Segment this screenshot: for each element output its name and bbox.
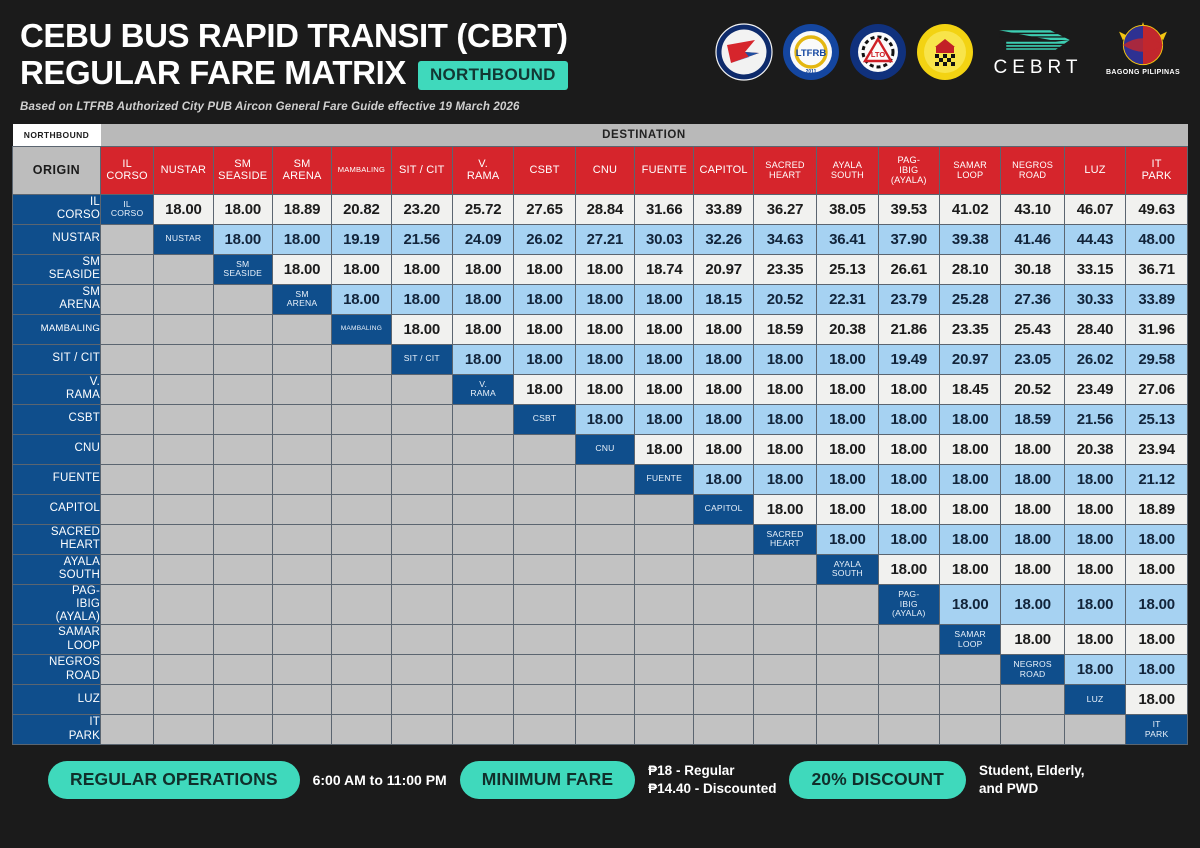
table-row: SMARENASMARENA18.0018.0018.0018.0018.001… xyxy=(13,284,1188,314)
fare-cell-pag-ibig-ayala-to-samar-loop[interactable]: 18.00 xyxy=(940,584,1001,625)
fare-cell-ayala-south-to-negros-road[interactable]: 18.00 xyxy=(1001,554,1064,584)
fare-cell-cnu-to-capitol[interactable]: 18.00 xyxy=(694,434,753,464)
empty-cell-it-park-to-ayala-south xyxy=(817,715,878,745)
empty-cell-samar-loop-to-fuente xyxy=(635,625,694,655)
diagonal-cell-sm-seaside-to-sm-seaside: SMSEASIDE xyxy=(213,254,272,284)
fare-cell-il-corso-to-v-rama[interactable]: 25.72 xyxy=(452,194,513,224)
fare-cell-sm-arena-to-csbt[interactable]: 18.00 xyxy=(514,284,575,314)
fare-cell-fuente-to-negros-road[interactable]: 18.00 xyxy=(1001,464,1064,494)
origin-label-csbt[interactable]: CSBT xyxy=(13,404,101,434)
empty-cell-capitol-to-il-corso xyxy=(101,494,154,524)
empty-cell-sacred-heart-to-sit-cit xyxy=(391,524,452,554)
fare-cell-nustar-to-v-rama[interactable]: 24.09 xyxy=(452,224,513,254)
destination-header-fuente[interactable]: FUENTE xyxy=(635,146,694,194)
empty-cell-mambaling-to-sm-arena xyxy=(272,314,331,344)
empty-cell-it-park-to-csbt xyxy=(514,715,575,745)
destination-header-v-rama[interactable]: V.RAMA xyxy=(452,146,513,194)
fare-cell-nustar-to-sm-seaside[interactable]: 18.00 xyxy=(213,224,272,254)
fare-cell-il-corso-to-it-park[interactable]: 49.63 xyxy=(1126,194,1188,224)
empty-cell-sacred-heart-to-sm-seaside xyxy=(213,524,272,554)
fare-cell-il-corso-to-sit-cit[interactable]: 23.20 xyxy=(391,194,452,224)
fare-cell-csbt-to-sacred-heart[interactable]: 18.00 xyxy=(753,404,816,434)
fare-cell-csbt-to-pag-ibig-ayala[interactable]: 18.00 xyxy=(878,404,939,434)
table-row: LUZLUZ18.00 xyxy=(13,685,1188,715)
empty-cell-capitol-to-mambaling xyxy=(332,494,391,524)
empty-cell-pag-ibig-ayala-to-fuente xyxy=(635,584,694,625)
table-row: ILCORSOILCORSO18.0018.0018.8920.8223.202… xyxy=(13,194,1188,224)
empty-cell-pag-ibig-ayala-to-il-corso xyxy=(101,584,154,625)
fare-cell-sm-arena-to-samar-loop[interactable]: 25.28 xyxy=(940,284,1001,314)
fare-cell-il-corso-to-samar-loop[interactable]: 41.02 xyxy=(940,194,1001,224)
empty-cell-cnu-to-csbt xyxy=(514,434,575,464)
fare-cell-cnu-to-samar-loop[interactable]: 18.00 xyxy=(940,434,1001,464)
fare-cell-sm-seaside-to-ayala-south[interactable]: 25.13 xyxy=(817,254,878,284)
empty-cell-sm-seaside-to-nustar xyxy=(154,254,213,284)
empty-cell-csbt-to-il-corso xyxy=(101,404,154,434)
origin-label-sit-cit[interactable]: SIT / CIT xyxy=(13,344,101,374)
empty-cell-v-rama-to-sit-cit xyxy=(391,374,452,404)
origin-label-nustar[interactable]: NUSTAR xyxy=(13,224,101,254)
fare-cell-nustar-to-fuente[interactable]: 30.03 xyxy=(635,224,694,254)
fare-cell-sm-arena-to-fuente[interactable]: 18.00 xyxy=(635,284,694,314)
fare-cell-mambaling-to-fuente[interactable]: 18.00 xyxy=(635,314,694,344)
fare-cell-sit-cit-to-luz[interactable]: 26.02 xyxy=(1064,344,1125,374)
fare-cell-v-rama-to-it-park[interactable]: 27.06 xyxy=(1126,374,1188,404)
empty-cell-samar-loop-to-cnu xyxy=(575,625,634,655)
page-footer: REGULAR OPERATIONS6:00 AM to 11:00 PMMIN… xyxy=(0,745,1200,803)
fare-cell-sm-seaside-to-pag-ibig-ayala[interactable]: 26.61 xyxy=(878,254,939,284)
table-row: CSBTCSBT18.0018.0018.0018.0018.0018.0018… xyxy=(13,404,1188,434)
empty-cell-luz-to-sacred-heart xyxy=(753,685,816,715)
fare-cell-il-corso-to-pag-ibig-ayala[interactable]: 39.53 xyxy=(878,194,939,224)
empty-cell-luz-to-mambaling xyxy=(332,685,391,715)
fare-cell-nustar-to-sit-cit[interactable]: 21.56 xyxy=(391,224,452,254)
fare-cell-sacred-heart-to-samar-loop[interactable]: 18.00 xyxy=(940,524,1001,554)
empty-cell-csbt-to-v-rama xyxy=(452,404,513,434)
fare-cell-sm-arena-to-luz[interactable]: 30.33 xyxy=(1064,284,1125,314)
fare-cell-il-corso-to-mambaling[interactable]: 20.82 xyxy=(332,194,391,224)
fare-cell-mambaling-to-capitol[interactable]: 18.00 xyxy=(694,314,753,344)
destination-header-csbt[interactable]: CSBT xyxy=(514,146,575,194)
empty-cell-pag-ibig-ayala-to-mambaling xyxy=(332,584,391,625)
header-text-block: CEBU BUS RAPID TRANSIT (CBRT) REGULAR FA… xyxy=(20,18,715,113)
destination-header-samar-loop[interactable]: SAMARLOOP xyxy=(940,146,1001,194)
destination-header-sm-seaside[interactable]: SMSEASIDE xyxy=(213,146,272,194)
table-row: V.RAMAV.RAMA18.0018.0018.0018.0018.0018.… xyxy=(13,374,1188,404)
empty-cell-luz-to-sm-arena xyxy=(272,685,331,715)
origin-label-sm-arena[interactable]: SMARENA xyxy=(13,284,101,314)
fare-cell-v-rama-to-sacred-heart[interactable]: 18.00 xyxy=(753,374,816,404)
fare-cell-v-rama-to-cnu[interactable]: 18.00 xyxy=(575,374,634,404)
origin-label-ayala-south[interactable]: AYALASOUTH xyxy=(13,554,101,584)
diagonal-cell-v-rama-to-v-rama: V.RAMA xyxy=(452,374,513,404)
fare-cell-sit-cit-to-csbt[interactable]: 18.00 xyxy=(514,344,575,374)
empty-cell-negros-road-to-capitol xyxy=(694,655,753,685)
empty-cell-it-park-to-il-corso xyxy=(101,715,154,745)
fare-cell-sm-arena-to-sacred-heart[interactable]: 20.52 xyxy=(753,284,816,314)
agency-logos: LTFRB 2011 LTO xyxy=(715,18,1184,82)
fare-cell-negros-road-to-it-park[interactable]: 18.00 xyxy=(1126,655,1188,685)
empty-cell-negros-road-to-ayala-south xyxy=(817,655,878,685)
fare-cell-sacred-heart-to-luz[interactable]: 18.00 xyxy=(1064,524,1125,554)
fare-cell-ayala-south-to-it-park[interactable]: 18.00 xyxy=(1126,554,1188,584)
fare-cell-fuente-to-it-park[interactable]: 21.12 xyxy=(1126,464,1188,494)
diagonal-cell-mambaling-to-mambaling: MAMBALING xyxy=(332,314,391,344)
table-head: NORTHBOUND DESTINATION ORIGIN ILCORSONUS… xyxy=(13,124,1188,194)
empty-cell-nustar-to-il-corso xyxy=(101,224,154,254)
empty-cell-pag-ibig-ayala-to-sacred-heart xyxy=(753,584,816,625)
destination-header-sacred-heart[interactable]: SACREDHEART xyxy=(753,146,816,194)
fare-cell-sm-seaside-to-csbt[interactable]: 18.00 xyxy=(514,254,575,284)
empty-cell-luz-to-pag-ibig-ayala xyxy=(878,685,939,715)
empty-cell-it-park-to-nustar xyxy=(154,715,213,745)
fare-cell-csbt-to-fuente[interactable]: 18.00 xyxy=(635,404,694,434)
fare-cell-csbt-to-capitol[interactable]: 18.00 xyxy=(694,404,753,434)
footer-pill-20-discount[interactable]: 20% DISCOUNT xyxy=(789,761,965,799)
empty-cell-ayala-south-to-sit-cit xyxy=(391,554,452,584)
empty-cell-capitol-to-sm-arena xyxy=(272,494,331,524)
empty-cell-it-park-to-capitol xyxy=(694,715,753,745)
fare-cell-capitol-to-negros-road[interactable]: 18.00 xyxy=(1001,494,1064,524)
empty-cell-ayala-south-to-mambaling xyxy=(332,554,391,584)
fare-cell-sm-arena-to-pag-ibig-ayala[interactable]: 23.79 xyxy=(878,284,939,314)
fare-cell-sm-seaside-to-sacred-heart[interactable]: 23.35 xyxy=(753,254,816,284)
fare-cell-ayala-south-to-pag-ibig-ayala[interactable]: 18.00 xyxy=(878,554,939,584)
fare-cell-il-corso-to-negros-road[interactable]: 43.10 xyxy=(1001,194,1064,224)
empty-cell-sacred-heart-to-capitol xyxy=(694,524,753,554)
empty-cell-fuente-to-mambaling xyxy=(332,464,391,494)
empty-cell-sacred-heart-to-fuente xyxy=(635,524,694,554)
fare-cell-pag-ibig-ayala-to-luz[interactable]: 18.00 xyxy=(1064,584,1125,625)
fare-cell-il-corso-to-sacred-heart[interactable]: 36.27 xyxy=(753,194,816,224)
empty-cell-samar-loop-to-capitol xyxy=(694,625,753,655)
fare-cell-sm-arena-to-ayala-south[interactable]: 22.31 xyxy=(817,284,878,314)
fare-cell-sacred-heart-to-it-park[interactable]: 18.00 xyxy=(1126,524,1188,554)
empty-cell-it-park-to-cnu xyxy=(575,715,634,745)
fare-cell-cnu-to-ayala-south[interactable]: 18.00 xyxy=(817,434,878,464)
empty-cell-sacred-heart-to-cnu xyxy=(575,524,634,554)
origin-label-samar-loop[interactable]: SAMARLOOP xyxy=(13,625,101,655)
empty-cell-samar-loop-to-il-corso xyxy=(101,625,154,655)
fare-cell-mambaling-to-pag-ibig-ayala[interactable]: 21.86 xyxy=(878,314,939,344)
page-subtitle: Based on LTFRB Authorized City PUB Airco… xyxy=(20,101,715,113)
fare-cell-nustar-to-csbt[interactable]: 26.02 xyxy=(514,224,575,254)
fare-cell-sm-seaside-to-sit-cit[interactable]: 18.00 xyxy=(391,254,452,284)
origin-label-cnu[interactable]: CNU xyxy=(13,434,101,464)
empty-cell-sm-arena-to-il-corso xyxy=(101,284,154,314)
fare-cell-nustar-to-ayala-south[interactable]: 36.41 xyxy=(817,224,878,254)
empty-cell-sacred-heart-to-il-corso xyxy=(101,524,154,554)
origin-label-il-corso[interactable]: ILCORSO xyxy=(13,194,101,224)
fare-cell-sm-seaside-to-luz[interactable]: 33.15 xyxy=(1064,254,1125,284)
empty-cell-fuente-to-v-rama xyxy=(452,464,513,494)
fare-cell-nustar-to-negros-road[interactable]: 41.46 xyxy=(1001,224,1064,254)
fare-cell-cnu-to-pag-ibig-ayala[interactable]: 18.00 xyxy=(878,434,939,464)
empty-cell-luz-to-sm-seaside xyxy=(213,685,272,715)
table-row: MAMBALINGMAMBALING18.0018.0018.0018.0018… xyxy=(13,314,1188,344)
fare-cell-sm-arena-to-v-rama[interactable]: 18.00 xyxy=(452,284,513,314)
fare-cell-sit-cit-to-negros-road[interactable]: 23.05 xyxy=(1001,344,1064,374)
empty-cell-ayala-south-to-sacred-heart xyxy=(753,554,816,584)
destination-header-ayala-south[interactable]: AYALASOUTH xyxy=(817,146,878,194)
fare-matrix-table-wrap: NORTHBOUND DESTINATION ORIGIN ILCORSONUS… xyxy=(0,124,1200,745)
fare-cell-sit-cit-to-it-park[interactable]: 29.58 xyxy=(1126,344,1188,374)
bagong-pilipinas-wordmark: BAGONG PILIPINAS xyxy=(1106,69,1180,76)
empty-cell-samar-loop-to-pag-ibig-ayala xyxy=(878,625,939,655)
fare-cell-il-corso-to-cnu[interactable]: 28.84 xyxy=(575,194,634,224)
origin-label-fuente[interactable]: FUENTE xyxy=(13,464,101,494)
fare-cell-sm-seaside-to-samar-loop[interactable]: 28.10 xyxy=(940,254,1001,284)
fare-cell-sit-cit-to-capitol[interactable]: 18.00 xyxy=(694,344,753,374)
empty-cell-mambaling-to-sm-seaside xyxy=(213,314,272,344)
empty-cell-v-rama-to-nustar xyxy=(154,374,213,404)
empty-cell-luz-to-fuente xyxy=(635,685,694,715)
empty-cell-samar-loop-to-ayala-south xyxy=(817,625,878,655)
fare-cell-il-corso-to-fuente[interactable]: 31.66 xyxy=(635,194,694,224)
fare-cell-fuente-to-pag-ibig-ayala[interactable]: 18.00 xyxy=(878,464,939,494)
fare-cell-sm-arena-to-it-park[interactable]: 33.89 xyxy=(1126,284,1188,314)
fare-cell-cnu-to-negros-road[interactable]: 18.00 xyxy=(1001,434,1064,464)
empty-cell-sm-seaside-to-il-corso xyxy=(101,254,154,284)
fare-cell-negros-road-to-luz[interactable]: 18.00 xyxy=(1064,655,1125,685)
fare-cell-sacred-heart-to-pag-ibig-ayala[interactable]: 18.00 xyxy=(878,524,939,554)
fare-cell-csbt-to-negros-road[interactable]: 18.59 xyxy=(1001,404,1064,434)
fare-cell-csbt-to-luz[interactable]: 21.56 xyxy=(1064,404,1125,434)
fare-cell-samar-loop-to-luz[interactable]: 18.00 xyxy=(1064,625,1125,655)
destination-header-capitol[interactable]: CAPITOL xyxy=(694,146,753,194)
empty-cell-it-park-to-fuente xyxy=(635,715,694,745)
destination-header-pag-ibig-ayala[interactable]: PAG-IBIG(AYALA) xyxy=(878,146,939,194)
fare-cell-capitol-to-it-park[interactable]: 18.89 xyxy=(1126,494,1188,524)
empty-cell-capitol-to-sm-seaside xyxy=(213,494,272,524)
fare-cell-capitol-to-pag-ibig-ayala[interactable]: 18.00 xyxy=(878,494,939,524)
table-row: SACREDHEARTSACREDHEART18.0018.0018.0018.… xyxy=(13,524,1188,554)
empty-cell-negros-road-to-fuente xyxy=(635,655,694,685)
fare-cell-sit-cit-to-sacred-heart[interactable]: 18.00 xyxy=(753,344,816,374)
fare-cell-csbt-to-cnu[interactable]: 18.00 xyxy=(575,404,634,434)
origin-header: ORIGIN xyxy=(13,146,101,194)
fare-cell-v-rama-to-pag-ibig-ayala[interactable]: 18.00 xyxy=(878,374,939,404)
fare-cell-cnu-to-luz[interactable]: 20.38 xyxy=(1064,434,1125,464)
footer-pill-regular-operations[interactable]: REGULAR OPERATIONS xyxy=(48,761,300,799)
fare-cell-v-rama-to-luz[interactable]: 23.49 xyxy=(1064,374,1125,404)
fare-cell-nustar-to-sm-arena[interactable]: 18.00 xyxy=(272,224,331,254)
fare-cell-sm-arena-to-sit-cit[interactable]: 18.00 xyxy=(391,284,452,314)
empty-cell-it-park-to-mambaling xyxy=(332,715,391,745)
empty-cell-samar-loop-to-v-rama xyxy=(452,625,513,655)
origin-label-sacred-heart[interactable]: SACREDHEART xyxy=(13,524,101,554)
fare-cell-sit-cit-to-fuente[interactable]: 18.00 xyxy=(635,344,694,374)
fare-cell-il-corso-to-luz[interactable]: 46.07 xyxy=(1064,194,1125,224)
fare-cell-capitol-to-sacred-heart[interactable]: 18.00 xyxy=(753,494,816,524)
empty-cell-mambaling-to-nustar xyxy=(154,314,213,344)
fare-cell-sm-seaside-to-mambaling[interactable]: 18.00 xyxy=(332,254,391,284)
destination-header-sm-arena[interactable]: SMARENA xyxy=(272,146,331,194)
empty-cell-negros-road-to-v-rama xyxy=(452,655,513,685)
fare-cell-pag-ibig-ayala-to-negros-road[interactable]: 18.00 xyxy=(1001,584,1064,625)
fare-cell-v-rama-to-csbt[interactable]: 18.00 xyxy=(514,374,575,404)
empty-cell-sm-arena-to-sm-seaside xyxy=(213,284,272,314)
empty-cell-v-rama-to-sm-seaside xyxy=(213,374,272,404)
fare-cell-sit-cit-to-pag-ibig-ayala[interactable]: 19.49 xyxy=(878,344,939,374)
empty-cell-it-park-to-sm-seaside xyxy=(213,715,272,745)
fare-cell-fuente-to-sacred-heart[interactable]: 18.00 xyxy=(753,464,816,494)
destination-header-mambaling[interactable]: MAMBALING xyxy=(332,146,391,194)
fare-cell-fuente-to-luz[interactable]: 18.00 xyxy=(1064,464,1125,494)
empty-cell-samar-loop-to-mambaling xyxy=(332,625,391,655)
fare-cell-mambaling-to-luz[interactable]: 28.40 xyxy=(1064,314,1125,344)
table-row: CNUCNU18.0018.0018.0018.0018.0018.0018.0… xyxy=(13,434,1188,464)
fare-cell-nustar-to-mambaling[interactable]: 19.19 xyxy=(332,224,391,254)
fare-cell-fuente-to-capitol[interactable]: 18.00 xyxy=(694,464,753,494)
origin-label-pag-ibig-ayala[interactable]: PAG-IBIG(AYALA) xyxy=(13,584,101,625)
fare-cell-capitol-to-ayala-south[interactable]: 18.00 xyxy=(817,494,878,524)
fare-cell-il-corso-to-csbt[interactable]: 27.65 xyxy=(514,194,575,224)
empty-cell-samar-loop-to-sm-seaside xyxy=(213,625,272,655)
empty-cell-luz-to-cnu xyxy=(575,685,634,715)
fare-cell-sit-cit-to-ayala-south[interactable]: 18.00 xyxy=(817,344,878,374)
fare-cell-nustar-to-pag-ibig-ayala[interactable]: 37.90 xyxy=(878,224,939,254)
fare-cell-fuente-to-samar-loop[interactable]: 18.00 xyxy=(940,464,1001,494)
origin-label-capitol[interactable]: CAPITOL xyxy=(13,494,101,524)
empty-cell-samar-loop-to-nustar xyxy=(154,625,213,655)
empty-cell-capitol-to-v-rama xyxy=(452,494,513,524)
fare-cell-mambaling-to-it-park[interactable]: 31.96 xyxy=(1126,314,1188,344)
diagonal-cell-sit-cit-to-sit-cit: SIT / CIT xyxy=(391,344,452,374)
fare-cell-nustar-to-capitol[interactable]: 32.26 xyxy=(694,224,753,254)
origin-label-luz[interactable]: LUZ xyxy=(13,685,101,715)
fare-cell-mambaling-to-sacred-heart[interactable]: 18.59 xyxy=(753,314,816,344)
fare-cell-sm-seaside-to-it-park[interactable]: 36.71 xyxy=(1126,254,1188,284)
diagonal-cell-pag-ibig-ayala-to-pag-ibig-ayala: PAG-IBIG(AYALA) xyxy=(878,584,939,625)
fare-cell-sm-arena-to-negros-road[interactable]: 27.36 xyxy=(1001,284,1064,314)
diagonal-cell-sacred-heart-to-sacred-heart: SACREDHEART xyxy=(753,524,816,554)
fare-cell-samar-loop-to-it-park[interactable]: 18.00 xyxy=(1126,625,1188,655)
fare-cell-sm-seaside-to-sm-arena[interactable]: 18.00 xyxy=(272,254,331,284)
svg-text:LTFRB: LTFRB xyxy=(796,48,827,59)
empty-cell-samar-loop-to-csbt xyxy=(514,625,575,655)
diagonal-cell-it-park-to-it-park: ITPARK xyxy=(1126,715,1188,745)
fare-cell-il-corso-to-sm-seaside[interactable]: 18.00 xyxy=(213,194,272,224)
fare-cell-mambaling-to-v-rama[interactable]: 18.00 xyxy=(452,314,513,344)
fare-cell-mambaling-to-csbt[interactable]: 18.00 xyxy=(514,314,575,344)
fare-cell-mambaling-to-negros-road[interactable]: 25.43 xyxy=(1001,314,1064,344)
fare-cell-csbt-to-it-park[interactable]: 25.13 xyxy=(1126,404,1188,434)
fare-cell-pag-ibig-ayala-to-it-park[interactable]: 18.00 xyxy=(1126,584,1188,625)
footer-pill-minimum-fare[interactable]: MINIMUM FARE xyxy=(460,761,635,799)
fare-cell-sm-seaside-to-negros-road[interactable]: 30.18 xyxy=(1001,254,1064,284)
destination-header-il-corso[interactable]: ILCORSO xyxy=(101,146,154,194)
empty-cell-ayala-south-to-cnu xyxy=(575,554,634,584)
destination-header-cnu[interactable]: CNU xyxy=(575,146,634,194)
empty-cell-sacred-heart-to-nustar xyxy=(154,524,213,554)
fare-cell-ayala-south-to-samar-loop[interactable]: 18.00 xyxy=(940,554,1001,584)
fare-cell-sacred-heart-to-ayala-south[interactable]: 18.00 xyxy=(817,524,878,554)
fare-cell-sit-cit-to-cnu[interactable]: 18.00 xyxy=(575,344,634,374)
origin-label-it-park[interactable]: ITPARK xyxy=(13,715,101,745)
fare-cell-luz-to-it-park[interactable]: 18.00 xyxy=(1126,685,1188,715)
fare-cell-samar-loop-to-negros-road[interactable]: 18.00 xyxy=(1001,625,1064,655)
fare-cell-cnu-to-fuente[interactable]: 18.00 xyxy=(635,434,694,464)
fare-cell-sit-cit-to-samar-loop[interactable]: 20.97 xyxy=(940,344,1001,374)
fare-cell-v-rama-to-capitol[interactable]: 18.00 xyxy=(694,374,753,404)
fare-cell-sm-arena-to-mambaling[interactable]: 18.00 xyxy=(332,284,391,314)
fare-cell-csbt-to-samar-loop[interactable]: 18.00 xyxy=(940,404,1001,434)
empty-cell-ayala-south-to-sm-arena xyxy=(272,554,331,584)
page-title-line2: REGULAR FARE MATRIX xyxy=(20,55,406,92)
fare-cell-il-corso-to-sm-arena[interactable]: 18.89 xyxy=(272,194,331,224)
fare-cell-csbt-to-ayala-south[interactable]: 18.00 xyxy=(817,404,878,434)
origin-label-v-rama[interactable]: V.RAMA xyxy=(13,374,101,404)
fare-cell-sit-cit-to-v-rama[interactable]: 18.00 xyxy=(452,344,513,374)
fare-cell-nustar-to-cnu[interactable]: 27.21 xyxy=(575,224,634,254)
empty-cell-sit-cit-to-il-corso xyxy=(101,344,154,374)
fare-cell-il-corso-to-capitol[interactable]: 33.89 xyxy=(694,194,753,224)
fare-cell-capitol-to-samar-loop[interactable]: 18.00 xyxy=(940,494,1001,524)
fare-cell-mambaling-to-sit-cit[interactable]: 18.00 xyxy=(391,314,452,344)
diagonal-cell-il-corso-to-il-corso: ILCORSO xyxy=(101,194,154,224)
fare-cell-mambaling-to-samar-loop[interactable]: 23.35 xyxy=(940,314,1001,344)
fare-cell-cnu-to-it-park[interactable]: 23.94 xyxy=(1126,434,1188,464)
origin-label-negros-road[interactable]: NEGROSROAD xyxy=(13,655,101,685)
origin-label-sm-seaside[interactable]: SMSEASIDE xyxy=(13,254,101,284)
empty-cell-cnu-to-sm-arena xyxy=(272,434,331,464)
empty-cell-negros-road-to-sm-arena xyxy=(272,655,331,685)
fare-cell-nustar-to-luz[interactable]: 44.43 xyxy=(1064,224,1125,254)
fare-cell-il-corso-to-nustar[interactable]: 18.00 xyxy=(154,194,213,224)
fare-cell-cnu-to-sacred-heart[interactable]: 18.00 xyxy=(753,434,816,464)
fare-cell-sm-arena-to-cnu[interactable]: 18.00 xyxy=(575,284,634,314)
fare-cell-v-rama-to-samar-loop[interactable]: 18.45 xyxy=(940,374,1001,404)
destination-header-it-park[interactable]: ITPARK xyxy=(1126,146,1188,194)
table-row: AYALASOUTHAYALASOUTH18.0018.0018.0018.00… xyxy=(13,554,1188,584)
destination-header-nustar[interactable]: NUSTAR xyxy=(154,146,213,194)
diagonal-cell-fuente-to-fuente: FUENTE xyxy=(635,464,694,494)
fare-cell-sm-arena-to-capitol[interactable]: 18.15 xyxy=(694,284,753,314)
fare-cell-sm-seaside-to-v-rama[interactable]: 18.00 xyxy=(452,254,513,284)
fare-cell-sm-seaside-to-cnu[interactable]: 18.00 xyxy=(575,254,634,284)
empty-cell-it-park-to-negros-road xyxy=(1001,715,1064,745)
destination-header-luz[interactable]: LUZ xyxy=(1064,146,1125,194)
empty-cell-it-park-to-sm-arena xyxy=(272,715,331,745)
fare-cell-v-rama-to-fuente[interactable]: 18.00 xyxy=(635,374,694,404)
fare-cell-capitol-to-luz[interactable]: 18.00 xyxy=(1064,494,1125,524)
fare-cell-mambaling-to-cnu[interactable]: 18.00 xyxy=(575,314,634,344)
fare-cell-sacred-heart-to-negros-road[interactable]: 18.00 xyxy=(1001,524,1064,554)
origin-label-mambaling[interactable]: MAMBALING xyxy=(13,314,101,344)
fare-cell-mambaling-to-ayala-south[interactable]: 20.38 xyxy=(817,314,878,344)
fare-cell-il-corso-to-ayala-south[interactable]: 38.05 xyxy=(817,194,878,224)
fare-cell-nustar-to-samar-loop[interactable]: 39.38 xyxy=(940,224,1001,254)
fare-cell-nustar-to-it-park[interactable]: 48.00 xyxy=(1126,224,1188,254)
empty-cell-negros-road-to-sm-seaside xyxy=(213,655,272,685)
fare-cell-sm-seaside-to-capitol[interactable]: 20.97 xyxy=(694,254,753,284)
fare-cell-fuente-to-ayala-south[interactable]: 18.00 xyxy=(817,464,878,494)
empty-cell-sit-cit-to-sm-arena xyxy=(272,344,331,374)
fare-cell-nustar-to-sacred-heart[interactable]: 34.63 xyxy=(753,224,816,254)
footer-text-1: ₱18 - Regular₱14.40 - Discounted xyxy=(648,762,776,799)
band-row: NORTHBOUND DESTINATION xyxy=(13,124,1188,146)
fare-cell-v-rama-to-negros-road[interactable]: 20.52 xyxy=(1001,374,1064,404)
fare-cell-sm-seaside-to-fuente[interactable]: 18.74 xyxy=(635,254,694,284)
destination-header-negros-road[interactable]: NEGROSROAD xyxy=(1001,146,1064,194)
fare-cell-ayala-south-to-luz[interactable]: 18.00 xyxy=(1064,554,1125,584)
empty-cell-it-park-to-sit-cit xyxy=(391,715,452,745)
destination-header-sit-cit[interactable]: SIT / CIT xyxy=(391,146,452,194)
fare-cell-v-rama-to-ayala-south[interactable]: 18.00 xyxy=(817,374,878,404)
empty-cell-csbt-to-sit-cit xyxy=(391,404,452,434)
empty-cell-capitol-to-cnu xyxy=(575,494,634,524)
